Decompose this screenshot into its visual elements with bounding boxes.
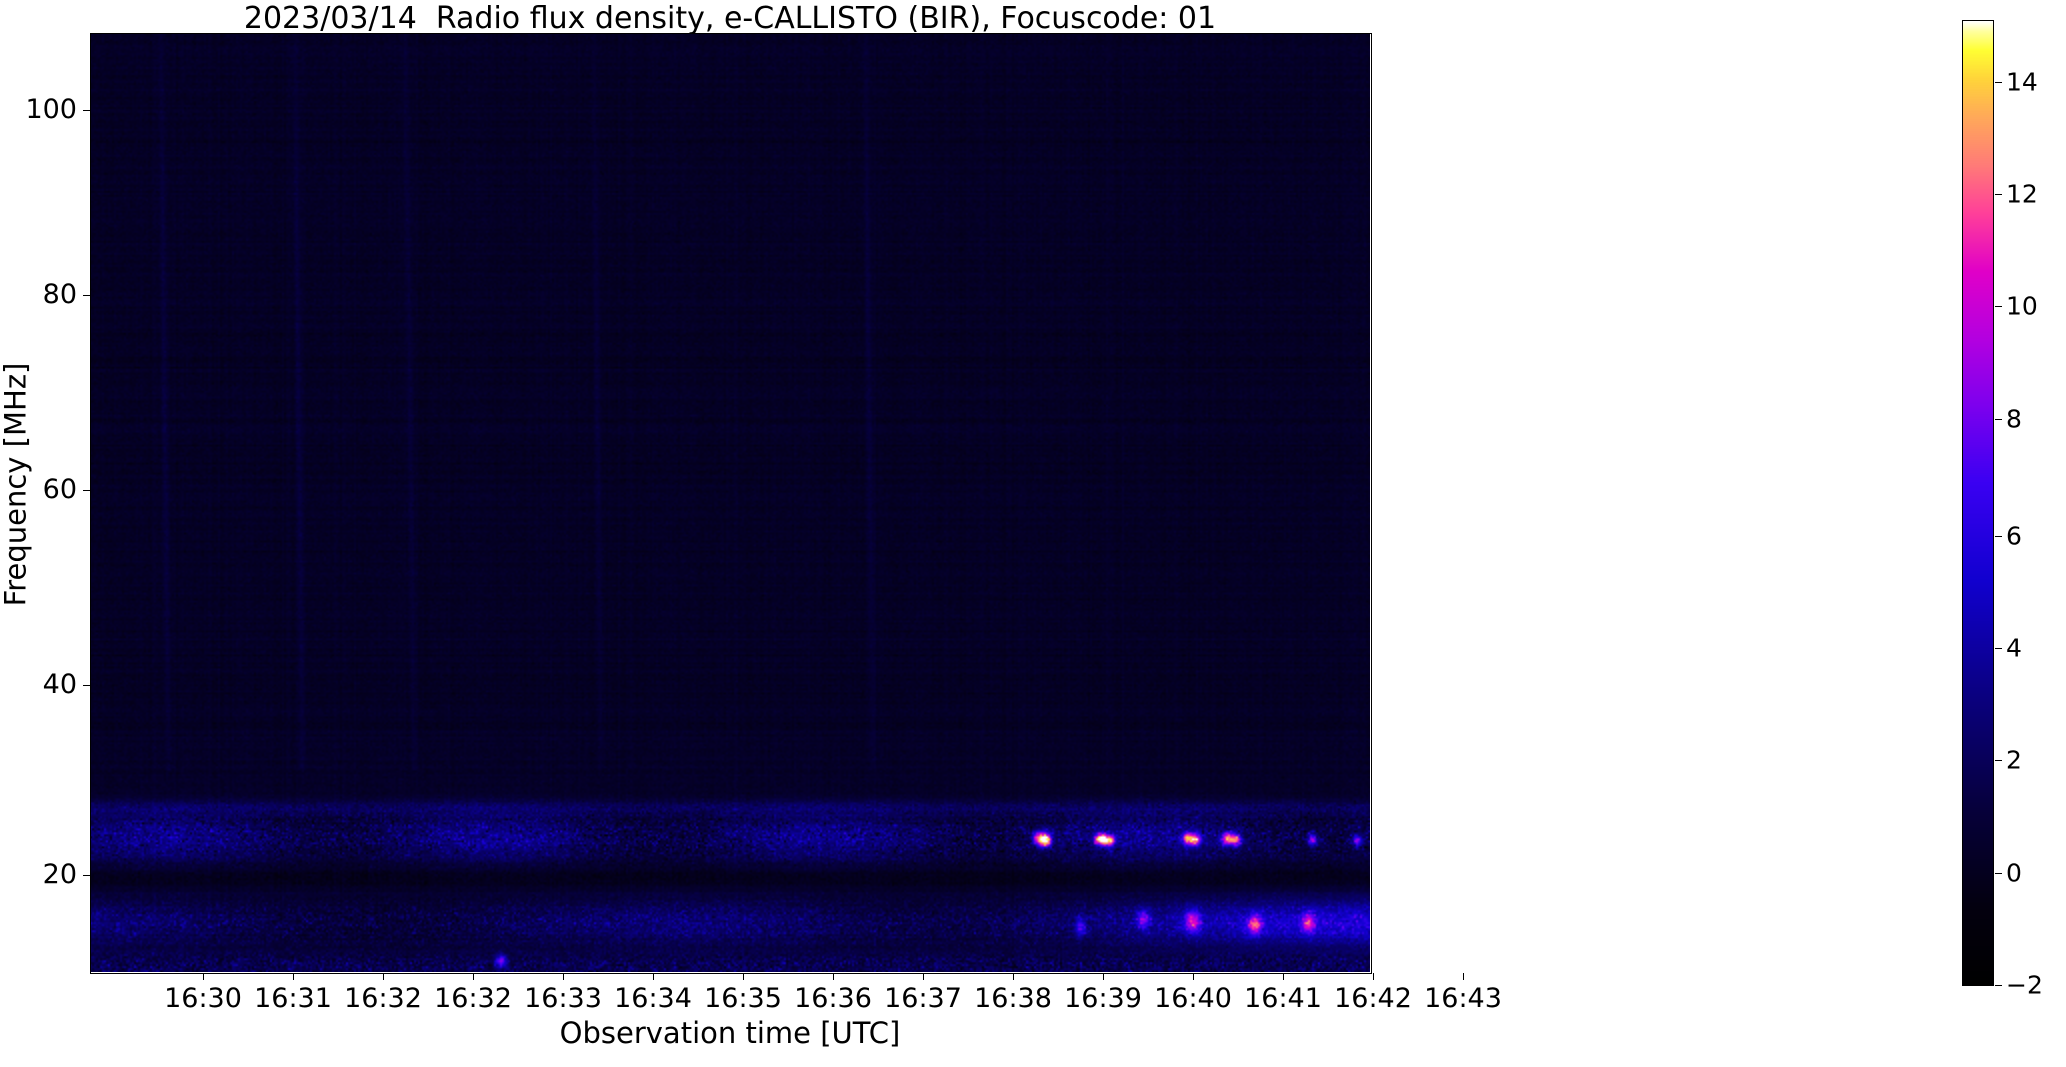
x-tick-label: 16:32 — [344, 985, 422, 1012]
y-tick-label: 20 — [43, 861, 77, 888]
spectrogram-heatmap[interactable] — [90, 33, 1370, 972]
y-tick-mark — [83, 875, 90, 876]
y-axis-label: Frequency [MHz] — [2, 285, 31, 685]
colorbar-tick-label: 8 — [2006, 407, 2022, 432]
colorbar-tick-mark — [1995, 306, 2002, 307]
page-title: 2023/03/14 Radio flux density, e-CALLIST… — [90, 2, 1370, 36]
colorbar-tick-label: 12 — [2006, 182, 2038, 207]
colorbar-tick-mark — [1995, 536, 2002, 537]
x-tick-label: 16:35 — [704, 985, 782, 1012]
y-tick-label: 80 — [43, 281, 77, 308]
x-tick-label: 16:32 — [434, 985, 512, 1012]
x-tick-label: 16:38 — [974, 985, 1052, 1012]
x-tick-mark — [563, 973, 564, 980]
colorbar-tick-mark — [1995, 760, 2002, 761]
x-tick-mark — [1463, 973, 1464, 980]
x-tick-label: 16:33 — [524, 985, 602, 1012]
colorbar-tick-mark — [1995, 985, 2002, 986]
x-tick-label: 16:37 — [884, 985, 962, 1012]
y-tick-label: 40 — [43, 671, 77, 698]
x-tick-label: 16:30 — [164, 985, 242, 1012]
colorbar-tick-label: 4 — [2006, 636, 2022, 661]
x-tick-label: 16:31 — [254, 985, 332, 1012]
colorbar-tick-label: 10 — [2006, 294, 2038, 319]
x-tick-mark — [743, 973, 744, 980]
colorbar-tick-mark — [1995, 873, 2002, 874]
colorbar-tick-label: 0 — [2006, 861, 2022, 886]
x-tick-label: 16:36 — [794, 985, 872, 1012]
x-tick-mark — [1193, 973, 1194, 980]
x-tick-mark — [1103, 973, 1104, 980]
x-tick-label: 16:41 — [1244, 985, 1322, 1012]
colorbar-tick-label: −2 — [2006, 973, 2043, 998]
colorbar-tick-label: 2 — [2006, 748, 2022, 773]
y-tick-mark — [83, 685, 90, 686]
colorbar[interactable] — [1962, 20, 1994, 986]
colorbar-tick-label: 14 — [2006, 70, 2038, 95]
colorbar-gradient — [1963, 21, 1993, 985]
x-tick-mark — [1013, 973, 1014, 980]
colorbar-tick-mark — [1995, 419, 2002, 420]
x-tick-label: 16:39 — [1064, 985, 1142, 1012]
x-tick-label: 16:40 — [1154, 985, 1232, 1012]
x-tick-mark — [923, 973, 924, 980]
colorbar-tick-mark — [1995, 648, 2002, 649]
x-tick-label: 16:34 — [614, 985, 692, 1012]
x-tick-mark — [833, 973, 834, 980]
x-tick-mark — [293, 973, 294, 980]
colorbar-tick-mark — [1995, 82, 2002, 83]
x-tick-mark — [1283, 973, 1284, 980]
x-axis-label: Observation time [UTC] — [90, 1017, 1370, 1049]
x-tick-mark — [653, 973, 654, 980]
figure-canvas: 2023/03/14 Radio flux density, e-CALLIST… — [0, 0, 2066, 1067]
y-tick-label: 60 — [43, 476, 77, 503]
x-tick-label: 16:43 — [1424, 985, 1502, 1012]
y-tick-mark — [83, 110, 90, 111]
x-tick-mark — [203, 973, 204, 980]
spectrogram-axes[interactable] — [90, 33, 1370, 972]
x-tick-label: 16:42 — [1334, 985, 1412, 1012]
x-tick-mark — [1373, 973, 1374, 980]
colorbar-tick-mark — [1995, 194, 2002, 195]
x-tick-mark — [383, 973, 384, 980]
y-tick-mark — [83, 490, 90, 491]
x-tick-mark — [473, 973, 474, 980]
y-tick-mark — [83, 295, 90, 296]
colorbar-tick-label: 6 — [2006, 524, 2022, 549]
y-tick-label: 100 — [25, 96, 77, 123]
